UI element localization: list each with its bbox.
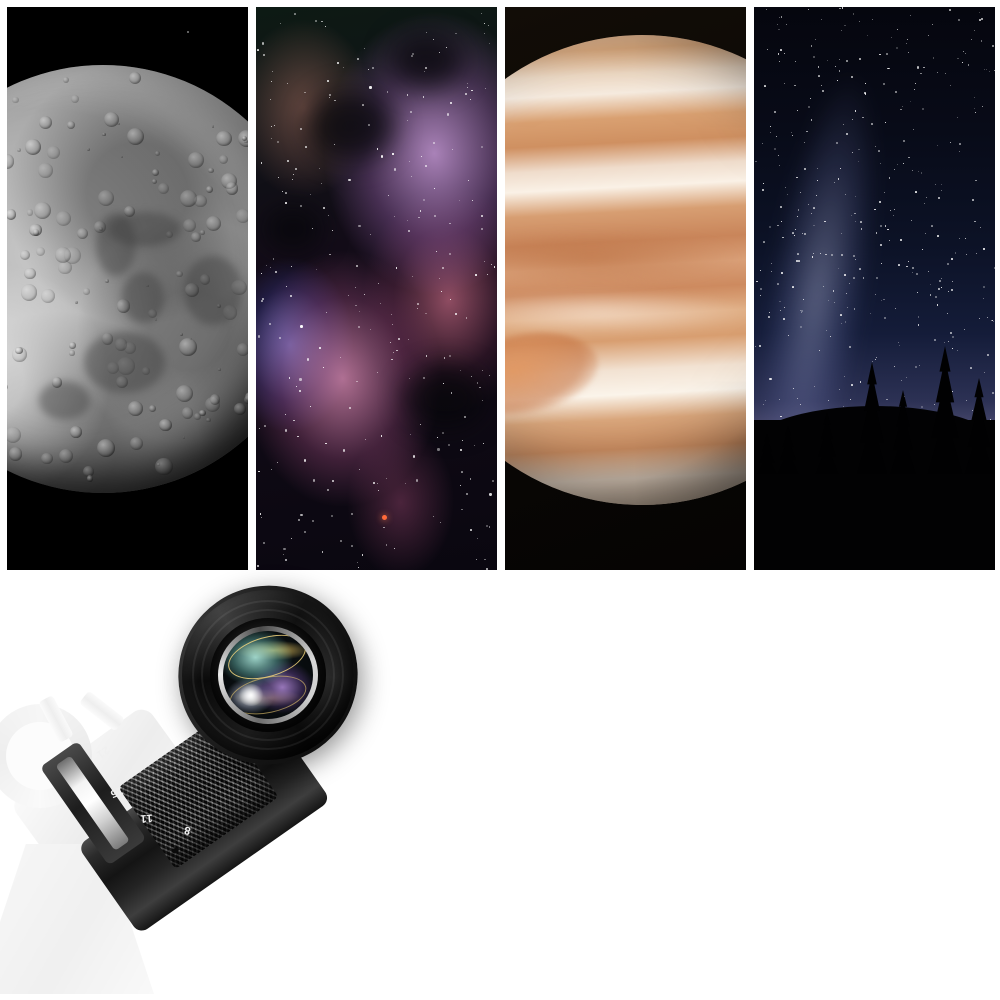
star xyxy=(824,221,825,222)
star xyxy=(377,148,379,150)
star xyxy=(296,386,297,387)
star xyxy=(918,316,919,317)
star xyxy=(881,300,882,301)
star xyxy=(860,221,862,223)
star xyxy=(767,49,768,50)
star xyxy=(768,316,770,318)
star xyxy=(808,9,809,10)
star xyxy=(437,437,438,438)
star xyxy=(310,406,311,407)
star xyxy=(487,274,488,275)
star xyxy=(865,83,866,84)
star xyxy=(816,195,817,196)
crater xyxy=(64,247,81,264)
star xyxy=(408,339,409,340)
star xyxy=(300,205,302,207)
star xyxy=(277,462,278,463)
crater xyxy=(7,427,21,443)
star xyxy=(972,199,974,201)
eyepiece-coated-lens xyxy=(223,631,313,719)
focal-scale-label-21: 21 xyxy=(94,743,112,760)
star xyxy=(441,291,442,292)
crater xyxy=(77,228,89,240)
star xyxy=(839,70,840,71)
star xyxy=(264,425,266,427)
star xyxy=(917,66,919,68)
star xyxy=(484,33,485,34)
crater xyxy=(194,195,207,208)
star xyxy=(355,287,356,288)
star xyxy=(938,197,940,199)
star xyxy=(855,110,856,111)
star xyxy=(886,53,888,55)
star xyxy=(803,299,804,300)
star xyxy=(257,565,259,567)
star xyxy=(894,366,895,367)
star xyxy=(981,40,983,42)
star xyxy=(959,151,960,152)
crater xyxy=(219,155,228,164)
star xyxy=(332,230,333,231)
star xyxy=(922,108,924,110)
star xyxy=(984,69,985,70)
star xyxy=(358,326,360,328)
star xyxy=(370,329,371,330)
crater xyxy=(75,301,78,304)
crater xyxy=(176,385,193,402)
crater xyxy=(130,437,143,450)
star xyxy=(900,239,901,240)
star xyxy=(821,85,822,86)
star xyxy=(917,292,918,293)
crater xyxy=(127,128,144,145)
star xyxy=(325,26,326,27)
star xyxy=(907,39,908,40)
star xyxy=(871,123,873,125)
star xyxy=(931,225,933,227)
star xyxy=(903,163,904,164)
star xyxy=(941,184,942,185)
star xyxy=(425,313,426,314)
star xyxy=(935,296,937,298)
focal-scale-label-11: 11 xyxy=(140,812,153,825)
star xyxy=(771,271,772,272)
star xyxy=(979,12,980,13)
star xyxy=(920,73,921,74)
crater xyxy=(183,219,196,232)
star xyxy=(932,24,933,25)
star xyxy=(983,286,985,288)
star xyxy=(811,213,812,214)
crater xyxy=(9,447,23,461)
star xyxy=(769,312,770,313)
crater xyxy=(87,148,90,151)
star xyxy=(785,187,786,188)
crater xyxy=(155,318,157,320)
star xyxy=(416,479,418,481)
nebula-dark-lane xyxy=(390,33,464,89)
star xyxy=(764,85,766,87)
star xyxy=(852,119,853,120)
star xyxy=(263,54,265,56)
star xyxy=(947,263,949,265)
star xyxy=(450,299,451,300)
star xyxy=(440,522,441,523)
star xyxy=(436,251,437,252)
red-star xyxy=(382,515,387,520)
crater xyxy=(234,403,246,415)
star xyxy=(844,376,845,377)
star xyxy=(413,455,415,457)
star xyxy=(937,304,938,305)
star xyxy=(837,80,838,81)
star xyxy=(285,192,287,194)
crater xyxy=(20,250,30,260)
crater xyxy=(38,163,53,178)
crater xyxy=(128,401,143,416)
star xyxy=(322,551,323,552)
star xyxy=(278,177,279,178)
crater xyxy=(237,343,248,355)
star xyxy=(800,326,802,328)
star xyxy=(951,258,953,260)
star xyxy=(902,106,903,107)
star xyxy=(482,400,483,401)
star xyxy=(486,525,488,527)
crater xyxy=(218,368,221,371)
star xyxy=(858,149,859,150)
jupiter-limb-shadow xyxy=(505,35,746,505)
star xyxy=(378,283,379,284)
star xyxy=(461,471,463,473)
star xyxy=(323,367,324,368)
star xyxy=(937,235,939,237)
crater xyxy=(179,338,197,356)
star xyxy=(357,58,359,60)
star xyxy=(410,111,412,113)
star xyxy=(489,526,490,527)
star xyxy=(952,348,953,349)
crater xyxy=(182,407,193,418)
star xyxy=(808,106,810,108)
star xyxy=(788,335,789,336)
star xyxy=(299,378,301,380)
star xyxy=(878,150,880,152)
star xyxy=(274,125,275,126)
star xyxy=(908,52,909,53)
star xyxy=(362,554,363,555)
crater xyxy=(152,169,159,176)
star xyxy=(838,268,839,269)
star xyxy=(839,59,840,60)
star xyxy=(319,168,320,169)
star xyxy=(851,215,852,216)
star xyxy=(912,272,913,273)
star xyxy=(481,228,483,230)
star xyxy=(879,201,880,202)
crater xyxy=(34,202,51,219)
star xyxy=(915,191,917,193)
star xyxy=(851,384,853,386)
crater xyxy=(98,190,114,206)
star xyxy=(359,311,360,312)
star xyxy=(327,489,328,490)
star xyxy=(294,13,296,15)
star xyxy=(439,52,440,53)
star xyxy=(970,367,972,369)
zoom-eyepiece-product-photo: 21 15 11 8 xyxy=(60,580,410,920)
star xyxy=(777,283,779,285)
star xyxy=(955,252,956,253)
star xyxy=(285,202,287,204)
star xyxy=(358,225,360,227)
star xyxy=(187,31,189,33)
star xyxy=(455,33,456,34)
crater xyxy=(188,152,204,168)
star xyxy=(328,215,329,216)
star xyxy=(261,273,262,274)
crater xyxy=(41,453,53,465)
star xyxy=(452,149,453,150)
star xyxy=(426,32,427,33)
star xyxy=(357,562,358,563)
star xyxy=(351,513,353,515)
star xyxy=(398,338,400,340)
star xyxy=(310,194,311,195)
star xyxy=(423,96,425,98)
star xyxy=(801,312,802,313)
star xyxy=(804,142,805,143)
crater xyxy=(59,449,73,463)
star xyxy=(381,435,382,436)
star xyxy=(875,146,876,147)
star xyxy=(455,313,457,315)
star xyxy=(780,49,782,51)
star xyxy=(914,89,915,90)
star xyxy=(475,274,476,275)
star xyxy=(980,227,981,228)
star xyxy=(853,13,854,14)
star xyxy=(470,529,472,531)
star xyxy=(437,448,439,450)
star xyxy=(271,81,272,82)
crater xyxy=(212,125,215,128)
star xyxy=(934,404,935,405)
star xyxy=(368,124,370,126)
star xyxy=(780,416,781,417)
star xyxy=(313,479,315,481)
star xyxy=(467,83,468,84)
star xyxy=(853,277,855,279)
star xyxy=(875,359,876,360)
star xyxy=(755,161,757,163)
star xyxy=(425,165,427,167)
star xyxy=(830,336,831,337)
gallery-tile-milky-way xyxy=(754,7,995,570)
crater xyxy=(155,151,160,156)
star xyxy=(800,404,801,405)
crater xyxy=(158,183,170,195)
crater xyxy=(159,419,171,431)
lunar-mare xyxy=(184,256,243,324)
star xyxy=(928,35,929,36)
star xyxy=(449,355,451,357)
star xyxy=(491,264,492,265)
star xyxy=(959,143,961,145)
star xyxy=(394,168,396,170)
star xyxy=(390,342,391,343)
star xyxy=(466,493,468,495)
crater xyxy=(200,230,205,235)
star xyxy=(391,314,392,315)
star xyxy=(780,206,782,208)
crater xyxy=(12,97,19,104)
star xyxy=(808,204,809,205)
star xyxy=(968,64,969,65)
star xyxy=(358,567,359,568)
star xyxy=(906,43,907,44)
gallery-tile-moon xyxy=(7,7,248,570)
star xyxy=(484,23,485,24)
star xyxy=(841,30,842,31)
star xyxy=(910,15,911,16)
crater xyxy=(21,284,37,300)
star xyxy=(327,80,329,82)
star xyxy=(941,278,942,279)
star xyxy=(817,168,818,169)
crater xyxy=(152,179,158,185)
star xyxy=(951,289,952,290)
crater xyxy=(67,121,75,129)
star xyxy=(923,67,925,69)
star xyxy=(880,163,881,164)
moon-craters xyxy=(7,7,248,570)
star xyxy=(890,210,891,211)
star xyxy=(442,432,444,434)
star xyxy=(916,273,918,275)
star xyxy=(369,86,371,88)
crater xyxy=(69,350,74,355)
star xyxy=(994,70,995,71)
star xyxy=(383,527,384,528)
star xyxy=(479,387,480,388)
star xyxy=(474,445,475,446)
star xyxy=(465,93,467,95)
crater xyxy=(7,384,8,390)
star xyxy=(928,271,929,272)
star xyxy=(292,179,293,180)
star xyxy=(262,42,264,44)
star xyxy=(974,221,976,223)
lunar-mare xyxy=(96,213,136,276)
star xyxy=(839,8,840,9)
star xyxy=(423,377,424,378)
star xyxy=(941,287,942,288)
star xyxy=(898,264,900,266)
product-feature-banner: 21 15 11 8 Widely Applicable for Diverse… xyxy=(0,0,1000,1000)
star xyxy=(770,126,771,127)
star xyxy=(894,169,895,170)
star xyxy=(280,23,281,24)
crater xyxy=(105,279,109,283)
star xyxy=(860,381,861,382)
star xyxy=(828,300,829,301)
star xyxy=(273,258,274,259)
crater xyxy=(24,268,35,279)
lens-specular-highlight xyxy=(238,684,264,706)
crater xyxy=(206,186,213,193)
star xyxy=(763,241,765,243)
crater xyxy=(194,413,201,420)
star xyxy=(811,45,812,46)
star xyxy=(947,313,948,314)
star xyxy=(492,480,494,482)
astro-image-gallery xyxy=(7,7,993,570)
crater xyxy=(210,394,220,404)
star xyxy=(364,294,365,295)
star xyxy=(962,62,963,63)
star xyxy=(434,215,435,216)
star xyxy=(987,317,988,318)
crater xyxy=(17,148,21,152)
star xyxy=(992,392,994,394)
star xyxy=(283,548,285,550)
star xyxy=(261,300,263,302)
star xyxy=(939,280,941,282)
star xyxy=(781,221,782,222)
star xyxy=(915,366,917,368)
star xyxy=(818,75,820,77)
crater xyxy=(7,209,16,220)
star xyxy=(472,200,473,201)
star xyxy=(844,274,845,275)
crater xyxy=(104,112,119,127)
star xyxy=(270,99,271,100)
star xyxy=(821,19,822,20)
crater xyxy=(206,418,211,423)
star xyxy=(405,483,406,484)
star xyxy=(392,324,393,325)
star xyxy=(874,209,876,211)
star xyxy=(378,490,379,491)
star xyxy=(886,399,887,400)
star xyxy=(305,146,307,148)
star xyxy=(792,286,794,288)
star xyxy=(459,200,460,201)
star xyxy=(948,341,949,342)
crater xyxy=(102,133,105,136)
star xyxy=(359,469,360,470)
star xyxy=(804,168,806,170)
star xyxy=(911,220,912,221)
crater xyxy=(180,333,183,336)
star xyxy=(934,339,936,341)
star xyxy=(418,217,420,219)
star xyxy=(263,542,265,544)
crater xyxy=(176,271,182,277)
crater xyxy=(226,182,238,194)
star xyxy=(983,248,984,249)
star xyxy=(859,21,860,22)
star xyxy=(841,233,842,234)
star xyxy=(810,98,811,99)
star xyxy=(984,372,985,373)
star xyxy=(784,83,785,84)
star xyxy=(394,548,395,549)
lunar-mare xyxy=(84,332,165,392)
star xyxy=(460,485,461,486)
star xyxy=(334,144,335,145)
